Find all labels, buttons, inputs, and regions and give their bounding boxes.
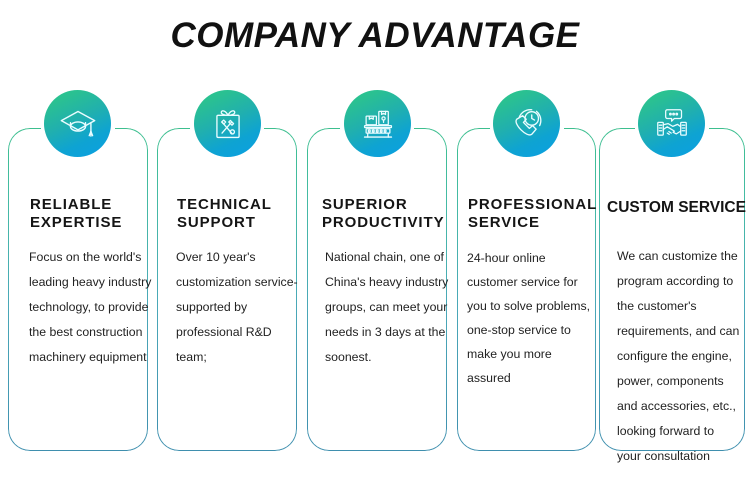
card-body-technical-support: Over 10 year's customization service-sup… <box>176 245 304 370</box>
card-body-professional-service: 24-hour online customer service for you … <box>467 246 592 390</box>
card-title-custom-service: CUSTOM SERVICE <box>607 199 746 217</box>
phone-clock-icon <box>493 90 560 157</box>
company-advantage-page: COMPANY ADVANTAGE RELIABLE EXPERTISE Foc… <box>0 0 750 479</box>
card-body-superior-productivity: National chain, one of China's heavy ind… <box>325 245 449 370</box>
card-title-superior-productivity: SUPERIOR PRODUCTIVITY <box>322 196 444 232</box>
handshake-chat-icon <box>638 90 705 157</box>
graduation-cap-icon <box>44 90 111 157</box>
card-title-professional-service: PROFESSIONAL SERVICE <box>468 196 597 232</box>
card-title-reliable-expertise: RELIABLE EXPERTISE <box>30 196 122 232</box>
factory-production-line-icon <box>344 90 411 157</box>
gift-box-tools-icon <box>194 90 261 157</box>
advantage-card-list: RELIABLE EXPERTISE Focus on the world's … <box>0 0 750 479</box>
card-body-reliable-expertise: Focus on the world's leading heavy indus… <box>29 245 155 370</box>
card-title-technical-support: TECHNICAL SUPPORT <box>177 196 272 232</box>
card-body-custom-service: We can customize the program according t… <box>617 244 741 469</box>
